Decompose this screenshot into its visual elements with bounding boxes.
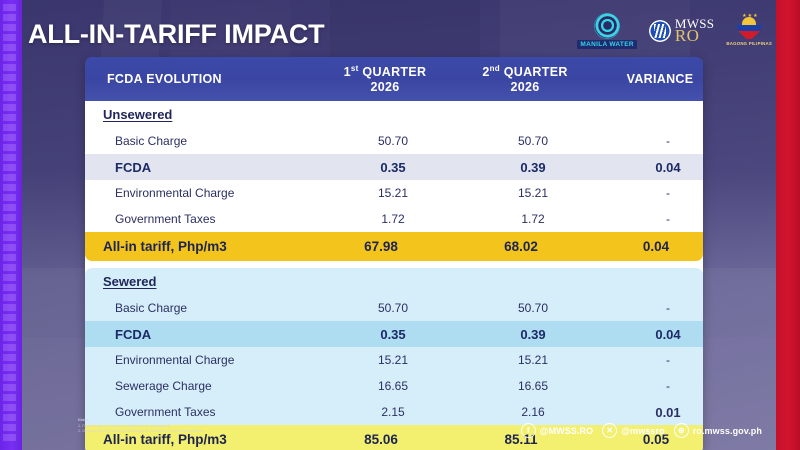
strip-tick (3, 194, 16, 201)
strip-tick (3, 54, 16, 61)
strip-tick (3, 204, 16, 211)
strip-tick (3, 24, 16, 31)
section-gap (85, 261, 703, 268)
q2-word: QUARTER (504, 65, 568, 79)
row-value-variance: 0.01 (603, 405, 703, 420)
footnote-2: 2. Government Tax used is the Average Go… (78, 429, 204, 435)
strip-tick (3, 104, 16, 111)
strip-tick (3, 394, 16, 401)
section-heading-label: Unsewered (85, 107, 311, 122)
table-row: FCDA0.350.390.04 (85, 154, 703, 180)
strip-tick (3, 344, 16, 351)
water-swirl-icon (594, 13, 620, 39)
q1-ordinal: 1 (344, 65, 351, 79)
row-value-variance: 0.04 (603, 327, 703, 342)
row-value-q1: 0.35 (323, 160, 463, 175)
strip-tick (3, 184, 16, 191)
row-label: All-in tariff, Php/m3 (85, 239, 311, 254)
table-total-row: All-in tariff, Php/m367.9868.020.04 (85, 232, 703, 261)
row-label: Basic Charge (85, 301, 323, 315)
strip-tick (3, 374, 16, 381)
globe-icon[interactable]: ⊕ (674, 423, 689, 438)
strip-tick (3, 34, 16, 41)
row-value-q2: 15.21 (463, 186, 603, 200)
strip-tick (3, 154, 16, 161)
row-label: Environmental Charge (85, 353, 323, 367)
row-value-q1: 50.70 (323, 134, 463, 148)
col-header-label: FCDA EVOLUTION (85, 72, 315, 87)
table-row: Basic Charge50.7050.70- (85, 128, 703, 154)
table-header-row: FCDA EVOLUTION 1st QUARTER2026 2nd QUART… (85, 57, 703, 101)
social-handle[interactable]: @mwssro (621, 426, 665, 436)
row-value-variance: - (603, 353, 703, 367)
row-value-q2: 1.72 (463, 212, 603, 226)
strip-tick (3, 294, 16, 301)
row-value-variance: - (603, 212, 703, 226)
row-value-q1: 1.72 (323, 212, 463, 226)
row-value-q1: 15.21 (323, 353, 463, 367)
fcda-evolution-table: FCDA EVOLUTION 1st QUARTER2026 2nd QUART… (85, 57, 703, 450)
q2-year: 2026 (510, 80, 539, 94)
page-title: ALL-IN-TARIFF IMPACT (28, 19, 324, 50)
mwss-ro-logo: MWSS RO (649, 18, 715, 44)
section-heading-row: Sewered (85, 268, 703, 295)
section-heading-row: Unsewered (85, 101, 703, 128)
row-value-variance: - (603, 301, 703, 315)
q1-year: 2026 (370, 80, 399, 94)
strip-tick (3, 114, 16, 121)
strip-tick (3, 354, 16, 361)
q1-word: QUARTER (362, 65, 426, 79)
left-accent-strip (0, 0, 22, 450)
strip-tick (3, 244, 16, 251)
row-value-variance: - (603, 379, 703, 393)
table-section-unsewered: UnseweredBasic Charge50.7050.70-FCDA0.35… (85, 101, 703, 261)
strip-tick (3, 424, 16, 431)
strip-tick (3, 124, 16, 131)
red-band (738, 31, 760, 39)
row-value-q1: 15.21 (323, 186, 463, 200)
row-value-q1: 0.35 (323, 327, 463, 342)
row-label: Sewerage Charge (85, 379, 323, 393)
strip-tick (3, 84, 16, 91)
strip-tick (3, 44, 16, 51)
social-item[interactable]: ⊕ro.mwss.gov.ph (674, 423, 762, 438)
row-label: FCDA (85, 327, 323, 342)
row-value-q2: 0.39 (463, 160, 603, 175)
q2-ordinal: 2 (482, 65, 489, 79)
row-value-q2: 2.16 (463, 405, 603, 419)
table-row: Basic Charge50.7050.70- (85, 295, 703, 321)
strip-tick (3, 264, 16, 271)
row-value-q1: 85.06 (311, 432, 451, 447)
row-value-q2: 16.65 (463, 379, 603, 393)
section-heading-label: Sewered (85, 274, 311, 289)
table-body: UnseweredBasic Charge50.7050.70-FCDA0.35… (85, 101, 703, 450)
table-row: FCDA0.350.390.04 (85, 321, 703, 347)
sun-icon (742, 17, 756, 26)
strip-tick (3, 4, 16, 11)
row-value-q2: 50.70 (463, 301, 603, 315)
mwss-emblem-icon (649, 20, 671, 42)
bagong-pilipinas-logo: BAGONG PILIPINAS (726, 16, 772, 46)
row-value-q2: 15.21 (463, 353, 603, 367)
strip-tick (3, 174, 16, 181)
strip-tick (3, 334, 16, 341)
row-value-q1: 50.70 (323, 301, 463, 315)
strip-tick (3, 224, 16, 231)
row-value-q2: 50.70 (463, 134, 603, 148)
strip-tick (3, 164, 16, 171)
row-value-q1: 67.98 (311, 239, 451, 254)
social-handle[interactable]: @MWSS.RO (540, 426, 594, 436)
strip-tick (3, 64, 16, 71)
row-value-variance: 0.04 (603, 160, 703, 175)
strip-tick (3, 134, 16, 141)
q2-suffix: nd (490, 64, 500, 73)
table-row: Government Taxes1.721.72- (85, 206, 703, 232)
strip-tick (3, 384, 16, 391)
strip-tick (3, 214, 16, 221)
table-row: Sewerage Charge16.6516.65- (85, 373, 703, 399)
social-item[interactable]: ✕@mwssro (602, 423, 665, 438)
row-label: Basic Charge (85, 134, 323, 148)
strip-tick (3, 314, 16, 321)
strip-tick (3, 234, 16, 241)
col-header-q2: 2nd QUARTER2026 (455, 64, 595, 95)
manila-water-wordmark: MANILA WATER (577, 40, 636, 49)
blue-band (736, 25, 762, 32)
row-label: Government Taxes (85, 405, 323, 419)
strip-tick (3, 74, 16, 81)
row-label: Environmental Charge (85, 186, 323, 200)
strip-tick (3, 14, 16, 21)
right-accent-strip (776, 0, 800, 450)
strip-tick (3, 324, 16, 331)
row-value-q2: 68.02 (451, 239, 591, 254)
row-label: FCDA (85, 160, 323, 175)
row-value-q1: 16.65 (323, 379, 463, 393)
strip-tick (3, 274, 16, 281)
strip-tick (3, 364, 16, 371)
social-handle[interactable]: ro.mwss.gov.ph (693, 426, 762, 436)
row-label: Government Taxes (85, 212, 323, 226)
col-header-variance: VARIANCE (595, 72, 703, 87)
row-value-q1: 2.15 (323, 405, 463, 419)
strip-tick (3, 144, 16, 151)
row-value-variance: - (603, 186, 703, 200)
strip-tick (3, 284, 16, 291)
strip-tick (3, 434, 16, 441)
strip-tick (3, 304, 16, 311)
strip-tick (3, 254, 16, 261)
mwss-wordmark: MWSS RO (675, 18, 715, 44)
footnotes: Notes: 1. Figures may not add up to tota… (78, 418, 204, 435)
facebook-icon[interactable]: f (521, 423, 536, 438)
bagong-pilipinas-wordmark: BAGONG PILIPINAS (726, 41, 772, 46)
strip-tick (3, 404, 16, 411)
q1-suffix: st (351, 64, 359, 73)
row-value-variance: - (603, 134, 703, 148)
slide-canvas: ALL-IN-TARIFF IMPACT MANILA WATER MWSS R… (0, 0, 800, 450)
social-item[interactable]: f@MWSS.RO (521, 423, 594, 438)
table-row: Environmental Charge15.2115.21- (85, 347, 703, 373)
x-twitter-icon[interactable]: ✕ (602, 423, 617, 438)
logo-group: MANILA WATER MWSS RO BAGONG PILIPINAS (577, 8, 772, 54)
row-value-q2: 0.39 (463, 327, 603, 342)
col-header-q1: 1st QUARTER2026 (315, 64, 455, 95)
social-bar: f@MWSS.RO✕@mwssro⊕ro.mwss.gov.ph (521, 423, 762, 438)
strip-tick (3, 414, 16, 421)
row-value-variance: 0.04 (591, 239, 703, 254)
strip-tick (3, 94, 16, 101)
table-row: Environmental Charge15.2115.21- (85, 180, 703, 206)
philippine-shield-icon (734, 16, 764, 40)
manila-water-logo: MANILA WATER (577, 13, 636, 49)
